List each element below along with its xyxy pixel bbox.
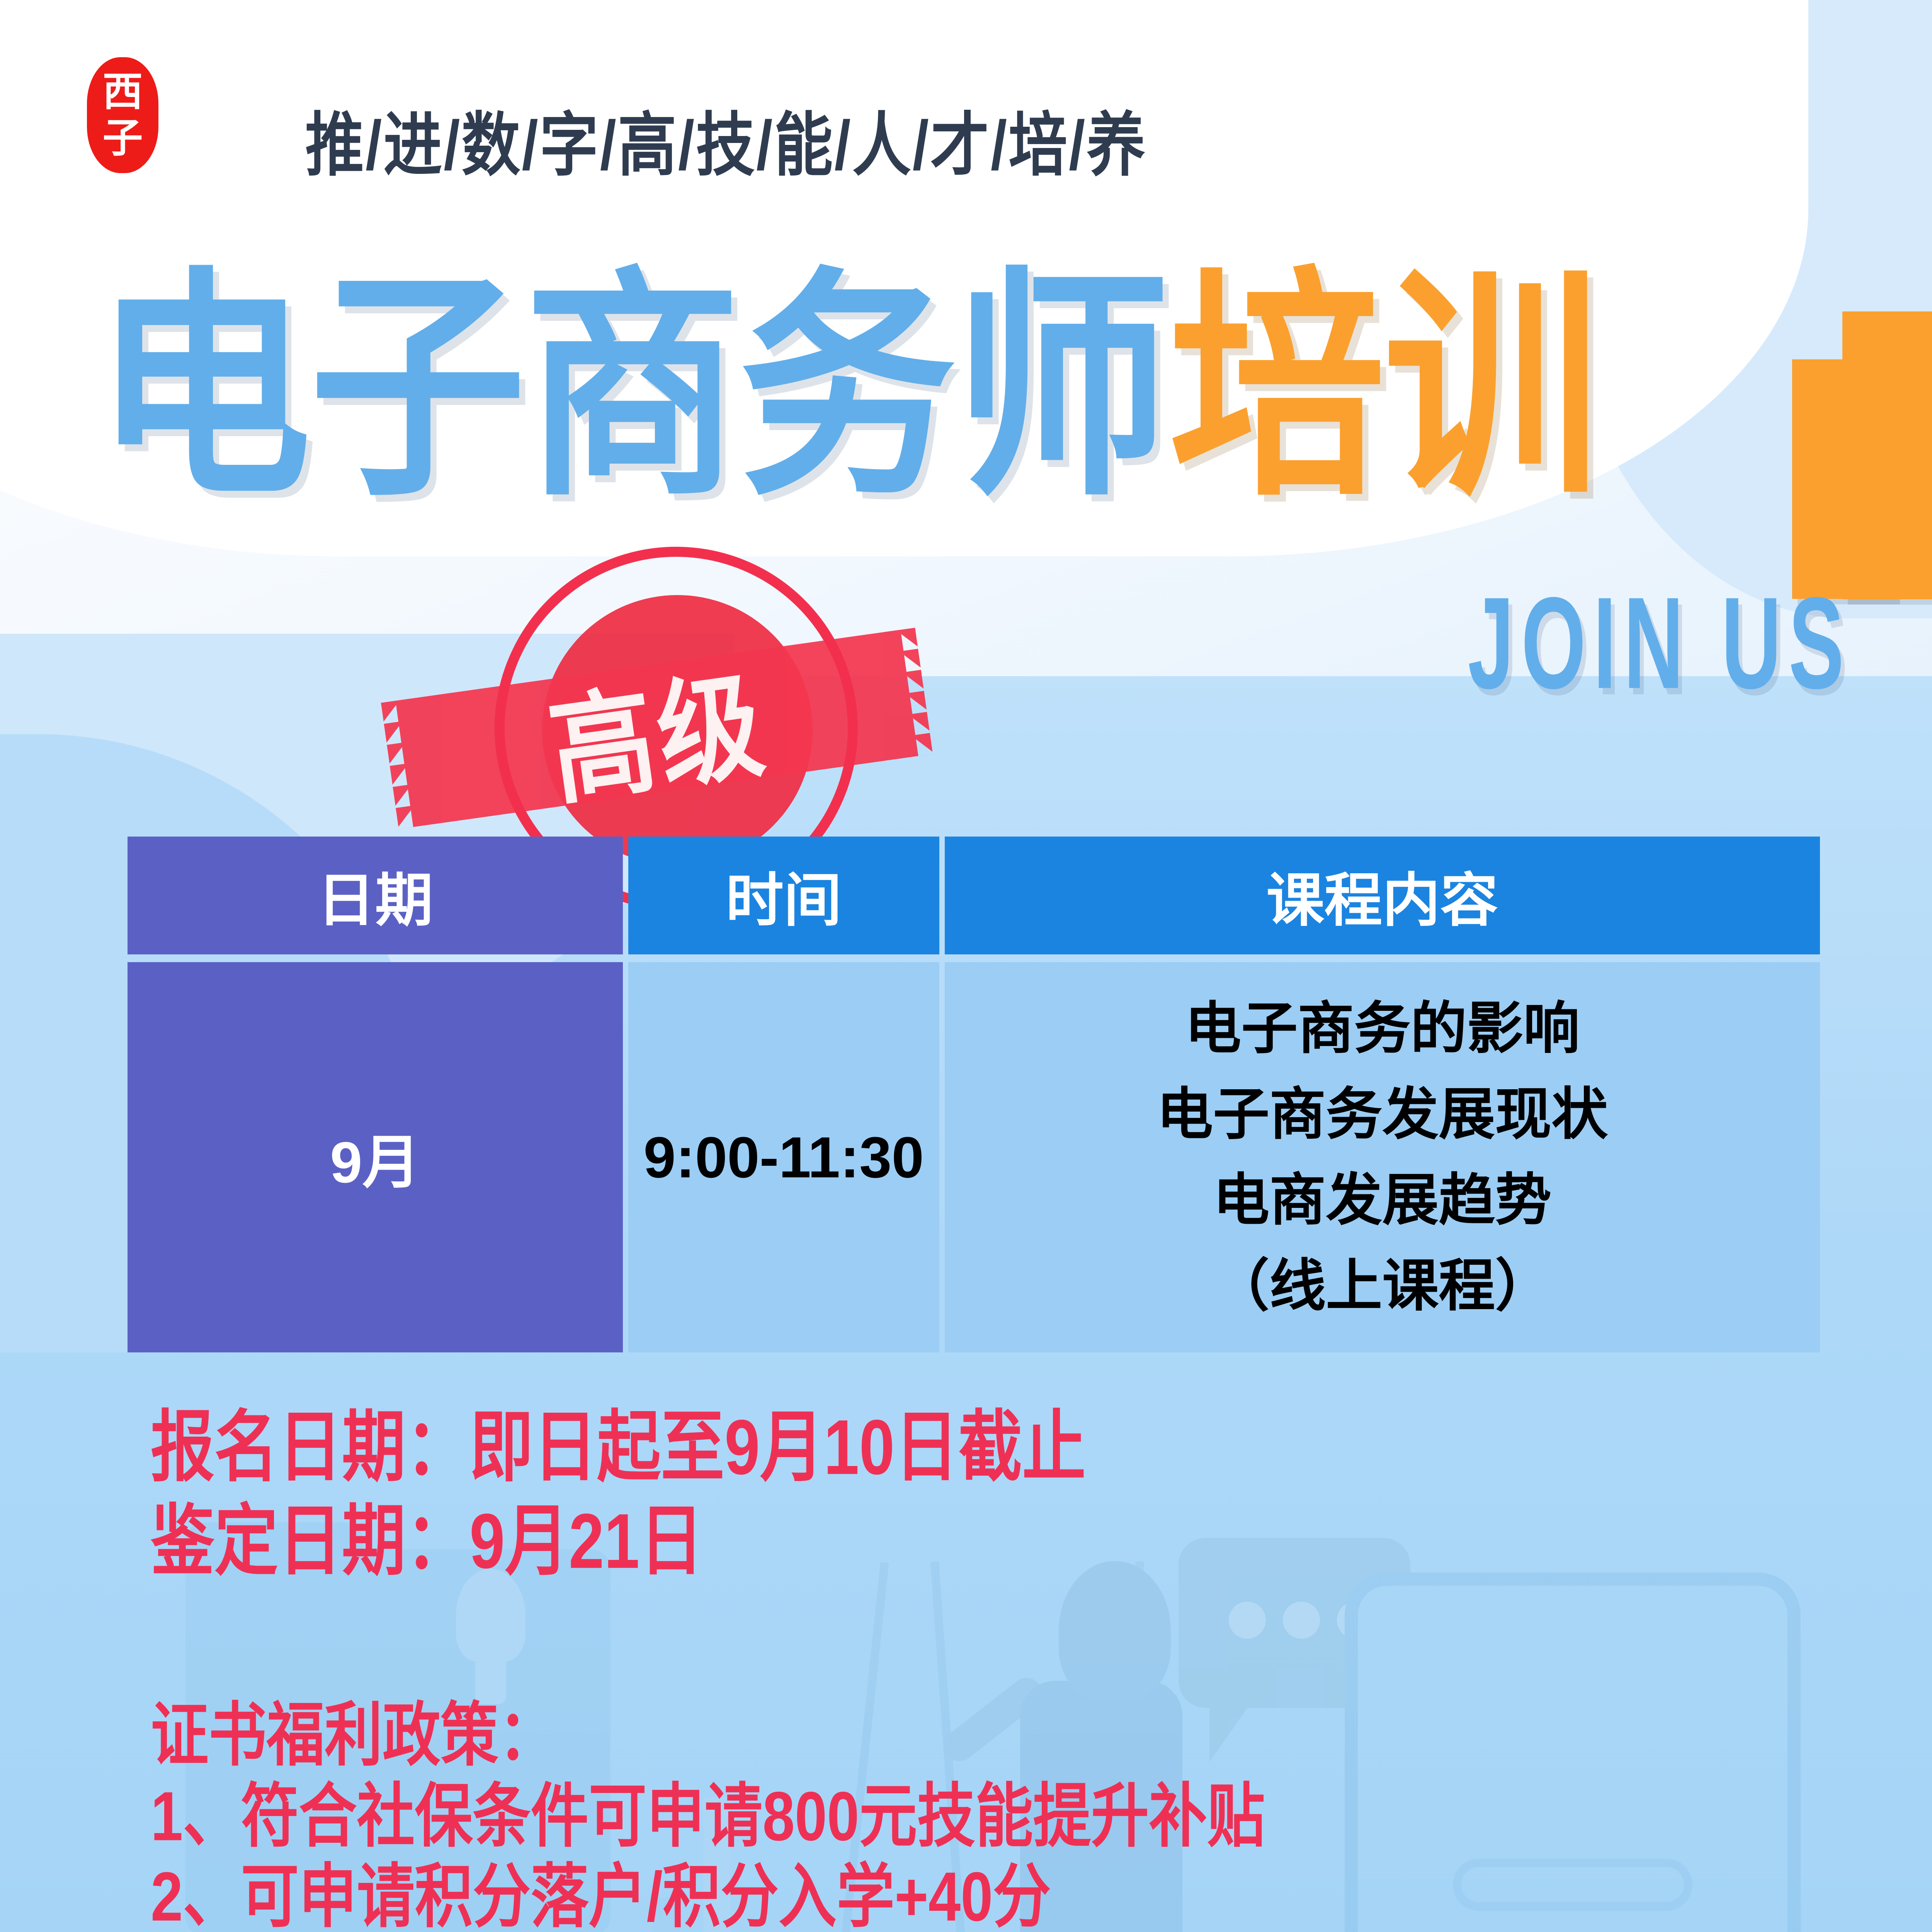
schedule-table: 日期 时间 课程内容 9月 9:00-11:30 电子商务的影响 电子商务发展现… xyxy=(128,837,1820,1352)
course-line-2: 电子商务发展现状 xyxy=(1156,1073,1608,1156)
xizi-seal-logo: 西 子 xyxy=(87,57,158,173)
page-title: 电子商务师培训 xyxy=(95,267,1599,509)
policy-title: 证书福利政策： xyxy=(151,1700,1851,1770)
course-line-4: （线上课程） xyxy=(1213,1244,1551,1328)
title-blue-part: 电子商务师 xyxy=(95,252,1169,523)
title-orange-part: 培训 xyxy=(1169,252,1599,523)
join-us-label: JOIN US xyxy=(1468,568,1851,718)
decor-orange-bar-large xyxy=(1842,311,1932,599)
table-cell-time: 9:00-11:30 xyxy=(628,962,939,1352)
seal-char-top: 西 xyxy=(102,72,143,112)
table-row: 9月 9:00-11:30 电子商务的影响 电子商务发展现状 电商发展趋势 （线… xyxy=(128,962,1820,1352)
table-header-time: 时间 xyxy=(628,837,939,954)
policy-item-1: 1、符合社保条件可申请800元技能提升补贴 xyxy=(151,1781,1851,1851)
bubble-dot-1 xyxy=(1229,1602,1266,1639)
table-cell-date: 9月 xyxy=(128,962,623,1352)
bubble-dot-2 xyxy=(1283,1602,1320,1639)
poster-root: 西 子 推/进/数/字/高/技/能/人/才/培/养 电子商务师培训 JOIN U… xyxy=(0,0,1932,1932)
registration-date-line: 报名日期：即日起至9月10日截止 xyxy=(151,1408,1812,1486)
course-line-3: 电商发展趋势 xyxy=(1213,1158,1551,1242)
table-header-course: 课程内容 xyxy=(945,837,1820,954)
key-dates-block: 报名日期：即日起至9月10日截止 鉴定日期：9月21日 xyxy=(151,1408,1812,1596)
seal-char-bottom: 子 xyxy=(102,118,143,158)
certificate-policy-block: 证书福利政策： 1、符合社保条件可申请800元技能提升补贴 2、可申请积分落户/… xyxy=(151,1700,1851,1932)
poster-subtitle: 推/进/数/字/高/技/能/人/才/培/养 xyxy=(305,89,1147,189)
course-line-1: 电子商务的影响 xyxy=(1185,987,1580,1070)
table-cell-course: 电子商务的影响 电子商务发展现状 电商发展趋势 （线上课程） xyxy=(945,962,1820,1352)
policy-item-2: 2、可申请积分落户/积分入学+40分 xyxy=(151,1862,1851,1931)
assessment-date-line: 鉴定日期：9月21日 xyxy=(151,1502,1812,1580)
table-header-row: 日期 时间 课程内容 xyxy=(128,837,1820,954)
table-header-date: 日期 xyxy=(128,837,623,954)
